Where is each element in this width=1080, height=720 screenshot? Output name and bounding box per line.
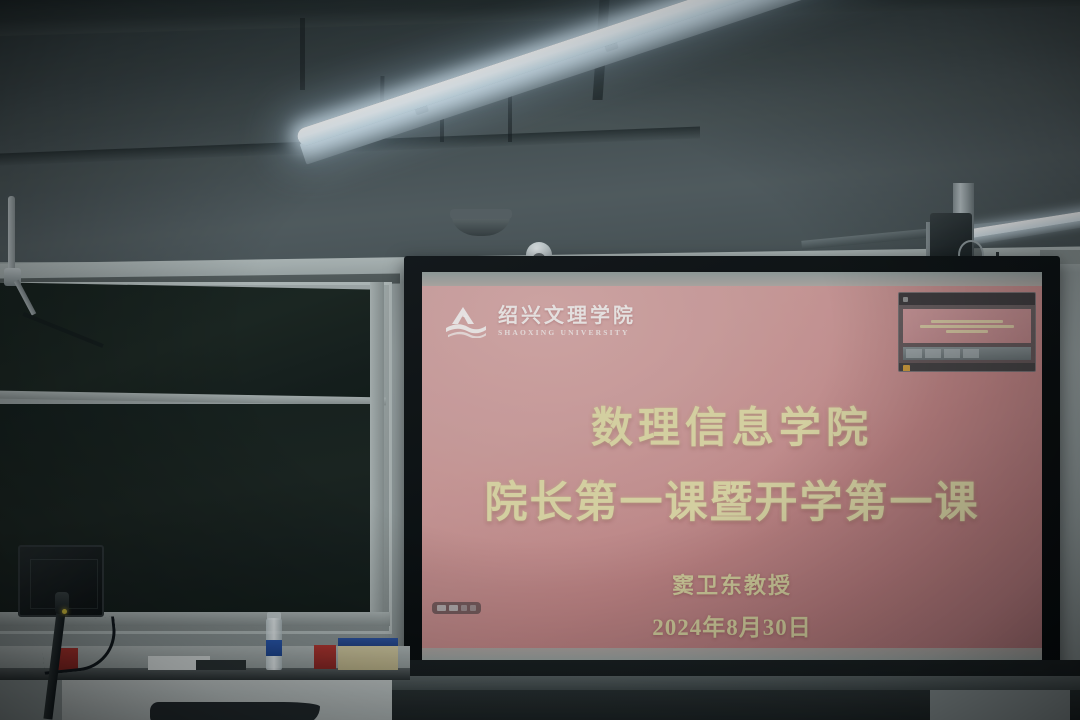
slide-playback-controls[interactable] xyxy=(432,602,481,614)
thumbnail-text-line xyxy=(920,325,1014,328)
wall-right-panel xyxy=(930,690,1070,720)
user-icon xyxy=(903,365,910,372)
preview-filmstrip[interactable] xyxy=(903,347,1031,360)
university-name-en: SHAOXING UNIVERSITY xyxy=(498,329,636,337)
playback-button-icon[interactable] xyxy=(470,605,476,611)
lectern-logo xyxy=(150,702,320,720)
ceiling-seam xyxy=(300,18,305,90)
thumbnail-text-line xyxy=(931,320,1003,323)
filmstrip-cell[interactable] xyxy=(925,349,941,358)
classroom-scene: 绍兴文理学院 SHAOXING UNIVERSITY xyxy=(0,0,1080,720)
ceiling-beam xyxy=(0,0,1080,36)
wall-ledge xyxy=(390,676,1080,690)
chalk-box[interactable] xyxy=(338,646,398,670)
university-logo: 绍兴文理学院 SHAOXING UNIVERSITY xyxy=(444,304,636,338)
playback-button-icon[interactable] xyxy=(449,605,458,611)
preview-slide-thumbnail[interactable] xyxy=(903,309,1031,343)
slide-title-line-1: 数理信息学院 xyxy=(422,394,1042,455)
filmstrip-cell[interactable] xyxy=(963,349,979,358)
filmstrip-cell[interactable] xyxy=(906,349,922,358)
preview-panel-titlebar xyxy=(899,293,1035,305)
preview-panel-icon xyxy=(903,297,908,302)
playback-button-icon[interactable] xyxy=(461,605,467,611)
screen-bottom-letterbox xyxy=(422,648,1042,660)
water-bottle-label xyxy=(266,640,282,656)
presenter-preview-panel[interactable] xyxy=(898,292,1036,372)
boom-arm-upper xyxy=(8,196,15,272)
display-screen[interactable]: 绍兴文理学院 SHAOXING UNIVERSITY xyxy=(422,272,1042,660)
chalkboard-upper-panel[interactable] xyxy=(0,282,384,399)
university-name-cn: 绍兴文理学院 xyxy=(498,306,636,326)
slide-title-line-2: 院长第一课暨开学第一课 xyxy=(422,468,1042,530)
ceiling xyxy=(0,0,1080,262)
filmstrip-cell[interactable] xyxy=(944,349,960,358)
shaoxing-university-emblem-icon xyxy=(444,304,488,338)
slide-speaker-name: 窦卫东教授 xyxy=(422,568,1042,600)
presentation-slide[interactable]: 绍兴文理学院 SHAOXING UNIVERSITY xyxy=(422,286,1042,648)
desk-remote-control[interactable] xyxy=(196,660,246,670)
playback-button-icon[interactable] xyxy=(437,605,446,611)
thumbnail-text-line xyxy=(946,330,988,333)
university-logo-text: 绍兴文理学院 SHAOXING UNIVERSITY xyxy=(498,306,636,337)
red-box[interactable] xyxy=(314,645,336,669)
screen-top-letterbox xyxy=(422,272,1042,286)
preview-panel-footer xyxy=(899,363,1035,372)
microphone-status-led xyxy=(62,609,67,614)
slide-date: 2024年8月30日 xyxy=(422,608,1042,642)
chalkboard-side-rail xyxy=(370,282,384,622)
